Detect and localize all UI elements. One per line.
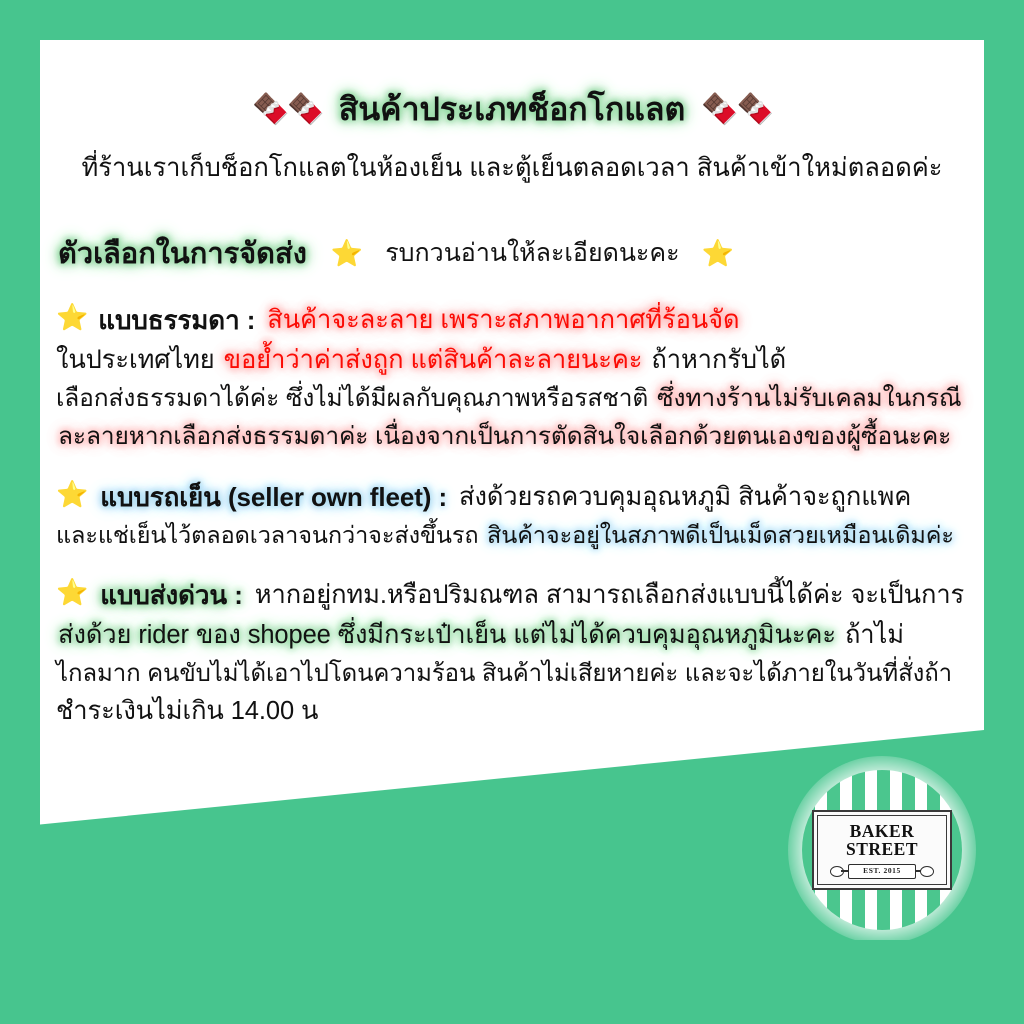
text-segment: สินค้าจะละลาย เพราะสภาพอากาศที่ร้อนจัด (265, 306, 741, 334)
star-icon-express: ⭐ (56, 579, 88, 605)
section-text: และแช่เย็นไว้ตลอดเวลาจนกว่าจะส่งขึ้นรถ ส… (56, 522, 956, 548)
text-segment: สินค้าจะอยู่ในสภาพดีเป็นเม็ดสวยเหมือนเดิ… (485, 522, 956, 548)
section-line: ในประเทศไทย ขอย้ำว่าค่าส่งถูก แต่สินค้าล… (56, 344, 968, 377)
text-segment: เลือกส่งธรรมดาได้ค่ะ ซึ่งไม่ได้มีผลกับคุ… (56, 385, 655, 412)
shipping-sections: ⭐แบบธรรมดา :สินค้าจะละลาย เพราะสภาพอากาศ… (56, 304, 968, 728)
shipping-section-cold-truck: ⭐แบบรถเย็น (seller own fleet) : ส่งด้วยร… (56, 481, 968, 551)
text-segment: ส่งด้วยรถควบคุมอุณหภูมิ สินค้าจะถูกแพค (459, 483, 911, 511)
text-segment: ไกลมาก คนขับไม่ได้เอาไปโดนความร้อน สินค้… (56, 660, 952, 687)
text-segment: ในประเทศไทย (56, 346, 222, 374)
section-text: สินค้าจะละลาย เพราะสภาพอากาศที่ร้อนจัด (265, 304, 741, 337)
section-label-normal: แบบธรรมดา : (98, 304, 255, 338)
text-segment: ซึ่งทางร้านไม่รับเคลมในกรณี (655, 385, 964, 412)
section-text: เลือกส่งธรรมดาได้ค่ะ ซึ่งไม่ได้มีผลกับคุ… (56, 385, 964, 412)
logo-plate: BAKER STREET EST. 2015 (812, 810, 952, 890)
section-line: ส่งด้วย rider ของ shopee ซึ่งมีกระเป๋าเย… (56, 619, 968, 652)
text-segment: ส่งด้วย rider ของ shopee ซึ่งมีกระเป๋าเย… (56, 621, 838, 649)
poster-root: 🍫🍫 สินค้าประเภทช็อกโกแลต 🍫🍫 ที่ร้านเราเก… (0, 0, 1024, 1024)
shipping-section-express: ⭐แบบส่งด่วน : หากอยู่กทม.หรือปริมณฑล สาม… (56, 579, 968, 728)
chocolate-bar-icon-right: 🍫🍫 (701, 95, 772, 125)
section-line: และแช่เย็นไว้ตลอดเวลาจนกว่าจะส่งขึ้นรถ ส… (56, 520, 968, 551)
star-icon-right: ⭐ (702, 240, 734, 266)
section-line: เลือกส่งธรรมดาได้ค่ะ ซึ่งไม่ได้มีผลกับคุ… (56, 383, 968, 415)
text-segment: ขอย้ำว่าค่าส่งถูก แต่สินค้าละลายนะคะ (222, 346, 645, 374)
section-text: ชำระเงินไม่เกิน 14.00 น (56, 697, 318, 725)
text-segment: หากอยู่กทม.หรือปริมณฑล สามารถเลือกส่งแบบ… (255, 581, 964, 609)
baker-street-logo: BAKER STREET EST. 2015 (802, 770, 962, 930)
text-segment: ชำระเงินไม่เกิน 14.00 น (56, 697, 318, 725)
section-line: ⭐แบบส่งด่วน : หากอยู่กทม.หรือปริมณฑล สาม… (56, 579, 968, 613)
star-icon-cold-truck: ⭐ (56, 481, 88, 507)
section-line: ละลายหากเลือกส่งธรรมดาค่ะ เนื่องจากเป็นก… (56, 421, 968, 453)
section-text: ไกลมาก คนขับไม่ได้เอาไปโดนความร้อน สินค้… (56, 660, 952, 687)
shipping-options-heading-row: ตัวเลือกในการจัดส่ง ⭐ รบกวนอ่านให้ละเอีย… (56, 230, 968, 276)
section-label-express: แบบส่งด่วน : (98, 579, 244, 613)
logo-established-year: EST. 2015 (828, 865, 936, 876)
shipping-section-normal: ⭐แบบธรรมดา :สินค้าจะละลาย เพราะสภาพอากาศ… (56, 304, 968, 453)
section-text: ส่งด้วยรถควบคุมอุณหภูมิ สินค้าจะถูกแพค (459, 481, 911, 514)
poster-content: 🍫🍫 สินค้าประเภทช็อกโกแลต 🍫🍫 ที่ร้านเราเก… (40, 40, 984, 728)
text-segment: ถ้าหากรับได้ (644, 346, 786, 374)
logo-brand-name: BAKER STREET (822, 823, 942, 858)
section-label-cold-truck: แบบรถเย็น (seller own fleet) : (98, 481, 449, 515)
section-text: ละลายหากเลือกส่งธรรมดาค่ะ เนื่องจากเป็นก… (56, 423, 953, 450)
page-title: สินค้าประเภทช็อกโกแลต (337, 84, 687, 135)
section-text: ในประเทศไทย ขอย้ำว่าค่าส่งถูก แต่สินค้าล… (56, 346, 786, 374)
white-card: 🍫🍫 สินค้าประเภทช็อกโกแลต 🍫🍫 ที่ร้านเราเก… (40, 40, 984, 940)
star-icon-left: ⭐ (331, 240, 363, 266)
read-carefully-note: รบกวนอ่านให้ละเอียดนะคะ (385, 233, 679, 273)
section-line: ⭐แบบรถเย็น (seller own fleet) : ส่งด้วยร… (56, 481, 968, 515)
chocolate-bar-icon-left: 🍫🍫 (252, 95, 323, 125)
star-icon-normal: ⭐ (56, 304, 88, 330)
header-row: 🍫🍫 สินค้าประเภทช็อกโกแลต 🍫🍫 (56, 84, 968, 135)
rolling-pin-icon: EST. 2015 (828, 863, 936, 878)
section-line: ชำระเงินไม่เกิน 14.00 น (56, 695, 968, 728)
section-text: ส่งด้วย rider ของ shopee ซึ่งมีกระเป๋าเย… (56, 621, 904, 649)
text-segment: ละลายหากเลือกส่งธรรมดาค่ะ เนื่องจากเป็นก… (56, 423, 953, 450)
logo-plate-inner: BAKER STREET EST. 2015 (817, 815, 947, 885)
section-text: หากอยู่กทม.หรือปริมณฑล สามารถเลือกส่งแบบ… (255, 579, 964, 612)
section-line: ⭐แบบธรรมดา :สินค้าจะละลาย เพราะสภาพอากาศ… (56, 304, 968, 338)
shipping-options-title: ตัวเลือกในการจัดส่ง (56, 230, 309, 276)
text-segment: ถ้าไม่ (838, 621, 904, 649)
header-subtitle: ที่ร้านเราเก็บช็อกโกแลตในห้องเย็น และตู้… (56, 148, 968, 188)
text-segment: และแช่เย็นไว้ตลอดเวลาจนกว่าจะส่งขึ้นรถ (56, 522, 485, 548)
section-line: ไกลมาก คนขับไม่ได้เอาไปโดนความร้อน สินค้… (56, 658, 968, 689)
